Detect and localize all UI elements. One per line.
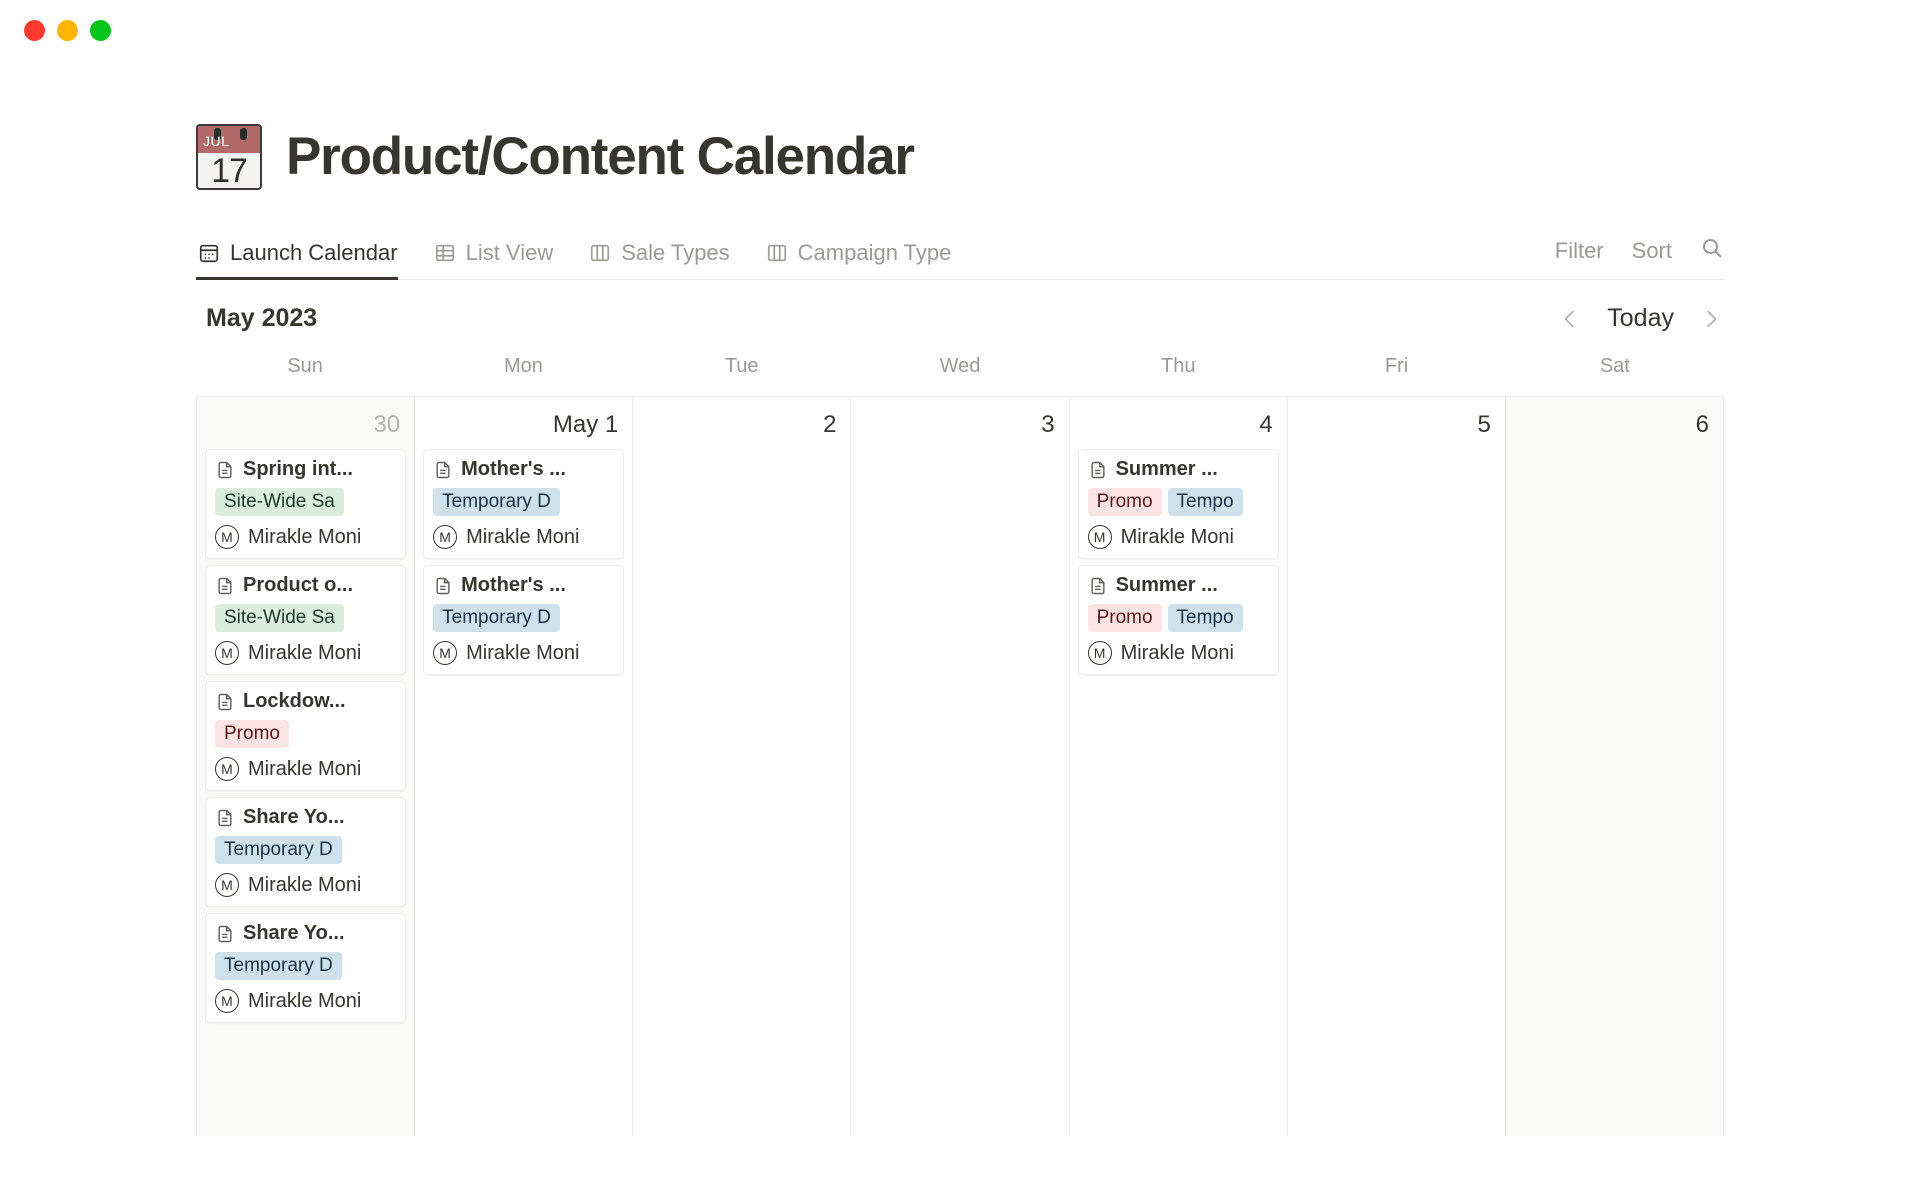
- close-button[interactable]: [24, 20, 45, 41]
- avatar: M: [433, 641, 457, 665]
- tab-label: Sale Types: [621, 240, 729, 266]
- calendar-nav: Today: [1559, 304, 1722, 333]
- tab-launch-calendar[interactable]: Launch Calendar: [196, 240, 412, 279]
- event-title: Summer ...: [1116, 458, 1218, 481]
- event-card[interactable]: Mother's ...Temporary DMMirakle Moni: [423, 449, 624, 559]
- window-controls: [24, 20, 111, 41]
- assignee-name: Mirakle Moni: [248, 642, 361, 665]
- avatar: M: [433, 525, 457, 549]
- view-tabbar: Launch Calendar List View: [196, 228, 1724, 280]
- event-tags: Temporary D: [433, 604, 614, 632]
- weekday-label: Fri: [1287, 355, 1505, 396]
- weekday-label: Thu: [1069, 355, 1287, 396]
- event-card[interactable]: Share Yo...Temporary DMMirakle Moni: [205, 797, 406, 907]
- event-title: Share Yo...: [243, 922, 345, 945]
- event-list: Summer ...PromoTempoMMirakle MoniSummer …: [1070, 449, 1287, 675]
- minimize-button[interactable]: [57, 20, 78, 41]
- weekday-label: Sat: [1506, 355, 1724, 396]
- assignee-name: Mirakle Moni: [466, 642, 579, 665]
- avatar: M: [215, 989, 239, 1013]
- day-number: 3: [851, 403, 1068, 449]
- assignee-name: Mirakle Moni: [466, 526, 579, 549]
- calendar-header: May 2023 Today: [196, 280, 1724, 355]
- table-view-icon: [434, 242, 456, 264]
- event-assignee: MMirakle Moni: [215, 989, 396, 1013]
- event-title: Product o...: [243, 574, 353, 597]
- day-number: May 1: [415, 403, 632, 449]
- assignee-name: Mirakle Moni: [248, 990, 361, 1013]
- calendar-view-icon: [198, 242, 220, 264]
- event-card-title-row: Product o...: [215, 574, 396, 597]
- event-card-title-row: Share Yo...: [215, 806, 396, 829]
- event-card-title-row: Share Yo...: [215, 922, 396, 945]
- event-card-title-row: Mother's ...: [433, 458, 614, 481]
- event-tag: Promo: [1088, 488, 1162, 516]
- sort-button[interactable]: Sort: [1632, 238, 1672, 264]
- event-card-title-row: Summer ...: [1088, 574, 1269, 597]
- event-list: Mother's ...Temporary DMMirakle MoniMoth…: [415, 449, 632, 675]
- document-icon: [1088, 576, 1108, 596]
- event-card-title-row: Mother's ...: [433, 574, 614, 597]
- event-tag: Tempo: [1168, 604, 1243, 632]
- event-card[interactable]: Share Yo...Temporary DMMirakle Moni: [205, 913, 406, 1023]
- event-tag: Temporary D: [433, 604, 560, 632]
- filter-button[interactable]: Filter: [1555, 238, 1604, 264]
- window-titlebar: [0, 0, 1920, 62]
- calendar-emoji-month: JUL: [203, 133, 229, 149]
- event-assignee: MMirakle Moni: [1088, 525, 1269, 549]
- avatar: M: [215, 525, 239, 549]
- calendar-day-cell[interactable]: 6: [1506, 397, 1724, 1136]
- event-card[interactable]: Summer ...PromoTempoMMirakle Moni: [1078, 449, 1279, 559]
- calendar-emoji-icon: JUL 17: [196, 124, 262, 190]
- document-icon: [215, 576, 235, 596]
- assignee-name: Mirakle Moni: [248, 526, 361, 549]
- chevron-left-icon[interactable]: [1559, 308, 1581, 330]
- calendar-day-cell[interactable]: 4Summer ...PromoTempoMMirakle MoniSummer…: [1070, 397, 1288, 1136]
- event-title: Mother's ...: [461, 458, 566, 481]
- event-card[interactable]: Lockdow...PromoMMirakle Moni: [205, 681, 406, 791]
- event-title: Spring int...: [243, 458, 353, 481]
- event-title: Share Yo...: [243, 806, 345, 829]
- calendar-day-cell[interactable]: 2: [633, 397, 851, 1136]
- day-number: 30: [197, 403, 414, 449]
- day-number: 5: [1288, 403, 1505, 449]
- weekday-label: Sun: [196, 355, 414, 396]
- maximize-button[interactable]: [90, 20, 111, 41]
- weekday-label: Tue: [633, 355, 851, 396]
- event-tag: Site-Wide Sa: [215, 604, 344, 632]
- board-view-icon: [766, 242, 788, 264]
- event-card-title-row: Spring int...: [215, 458, 396, 481]
- month-label: May 2023: [206, 304, 317, 333]
- event-tags: Temporary D: [433, 488, 614, 516]
- event-tags: Site-Wide Sa: [215, 488, 396, 516]
- weekday-header: SunMonTueWedThuFriSat: [196, 355, 1724, 396]
- event-tags: Temporary D: [215, 836, 396, 864]
- search-icon[interactable]: [1700, 236, 1724, 266]
- calendar-grid: 30Spring int...Site-Wide SaMMirakle Moni…: [196, 396, 1724, 1136]
- document-icon: [215, 924, 235, 944]
- document-icon: [215, 808, 235, 828]
- assignee-name: Mirakle Moni: [1121, 526, 1234, 549]
- event-card[interactable]: Spring int...Site-Wide SaMMirakle Moni: [205, 449, 406, 559]
- event-title: Mother's ...: [461, 574, 566, 597]
- event-assignee: MMirakle Moni: [433, 641, 614, 665]
- assignee-name: Mirakle Moni: [1121, 642, 1234, 665]
- event-tags: PromoTempo: [1088, 604, 1269, 632]
- calendar-day-cell[interactable]: 3: [851, 397, 1069, 1136]
- tab-label: Launch Calendar: [230, 240, 398, 266]
- calendar-day-cell[interactable]: May 1Mother's ...Temporary DMMirakle Mon…: [415, 397, 633, 1136]
- tab-label: List View: [466, 240, 554, 266]
- document-icon: [1088, 460, 1108, 480]
- day-number: 6: [1506, 403, 1723, 449]
- assignee-name: Mirakle Moni: [248, 874, 361, 897]
- avatar: M: [215, 641, 239, 665]
- document-icon: [433, 460, 453, 480]
- tab-label: Campaign Type: [798, 240, 952, 266]
- tab-campaign-type[interactable]: Campaign Type: [764, 240, 966, 279]
- tab-sale-types[interactable]: Sale Types: [587, 240, 743, 279]
- event-list: Spring int...Site-Wide SaMMirakle MoniPr…: [197, 449, 414, 1023]
- event-card[interactable]: Mother's ...Temporary DMMirakle Moni: [423, 565, 624, 675]
- event-assignee: MMirakle Moni: [215, 641, 396, 665]
- event-title: Summer ...: [1116, 574, 1218, 597]
- day-number: 2: [633, 403, 850, 449]
- event-assignee: MMirakle Moni: [433, 525, 614, 549]
- event-tag: Tempo: [1168, 488, 1243, 516]
- event-assignee: MMirakle Moni: [215, 757, 396, 781]
- calendar-day-cell[interactable]: 5: [1288, 397, 1506, 1136]
- event-tag: Temporary D: [215, 836, 342, 864]
- board-view-icon: [589, 242, 611, 264]
- document-icon: [215, 460, 235, 480]
- event-card-title-row: Lockdow...: [215, 690, 396, 713]
- tab-list-view[interactable]: List View: [432, 240, 568, 279]
- view-toolbar: Filter Sort: [1555, 236, 1724, 279]
- document-icon: [215, 692, 235, 712]
- page-header: JUL 17 Product/Content Calendar: [196, 124, 1724, 190]
- event-tags: Promo: [215, 720, 396, 748]
- day-number: 4: [1070, 403, 1287, 449]
- event-assignee: MMirakle Moni: [1088, 641, 1269, 665]
- event-assignee: MMirakle Moni: [215, 873, 396, 897]
- event-title: Lockdow...: [243, 690, 346, 713]
- avatar: M: [215, 873, 239, 897]
- event-tags: Temporary D: [215, 952, 396, 980]
- document-icon: [433, 576, 453, 596]
- avatar: M: [1088, 525, 1112, 549]
- event-card[interactable]: Summer ...PromoTempoMMirakle Moni: [1078, 565, 1279, 675]
- weekday-label: Wed: [851, 355, 1069, 396]
- page-content: JUL 17 Product/Content Calendar: [0, 124, 1920, 1136]
- event-tags: PromoTempo: [1088, 488, 1269, 516]
- calendar-day-cell[interactable]: 30Spring int...Site-Wide SaMMirakle Moni…: [197, 397, 415, 1136]
- assignee-name: Mirakle Moni: [248, 758, 361, 781]
- event-assignee: MMirakle Moni: [215, 525, 396, 549]
- avatar: M: [215, 757, 239, 781]
- event-tag: Promo: [215, 720, 289, 748]
- event-card-title-row: Summer ...: [1088, 458, 1269, 481]
- weekday-label: Mon: [414, 355, 632, 396]
- page-title: Product/Content Calendar: [286, 128, 914, 186]
- event-tag: Site-Wide Sa: [215, 488, 344, 516]
- event-tag: Temporary D: [215, 952, 342, 980]
- event-tags: Site-Wide Sa: [215, 604, 396, 632]
- today-button[interactable]: Today: [1607, 304, 1674, 333]
- event-card[interactable]: Product o...Site-Wide SaMMirakle Moni: [205, 565, 406, 675]
- event-tag: Promo: [1088, 604, 1162, 632]
- calendar-emoji-day: 17: [198, 152, 260, 190]
- event-tag: Temporary D: [433, 488, 560, 516]
- view-tabs: Launch Calendar List View: [196, 240, 1555, 279]
- chevron-right-icon[interactable]: [1700, 308, 1722, 330]
- avatar: M: [1088, 641, 1112, 665]
